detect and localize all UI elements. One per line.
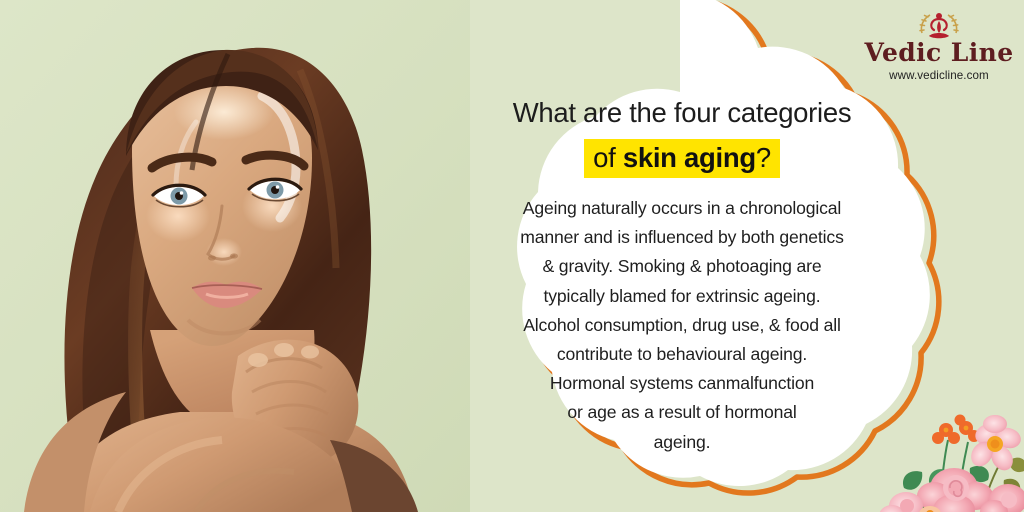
- body-line: Alcohol consumption, drug use, & food al…: [478, 311, 886, 340]
- body-line: Ageing naturally occurs in a chronologic…: [478, 194, 886, 223]
- body-line: or age as a result of hormonal: [478, 398, 886, 427]
- headline-line-1: What are the four categories: [478, 96, 886, 130]
- body-line: typically blamed for extrinsic ageing.: [478, 282, 886, 311]
- body-line: Hormonal systems canmalfunction: [478, 369, 886, 398]
- highlight-prefix: of: [593, 142, 623, 173]
- body-line: contribute to behavioural ageing.: [478, 340, 886, 369]
- body-line: manner and is influenced by both genetic…: [478, 223, 886, 252]
- floral-corner-decoration: [862, 384, 1024, 512]
- meditating-figure-wreath-icon: [916, 8, 962, 42]
- highlight-bold: skin aging: [623, 142, 756, 173]
- body-line: & gravity. Smoking & photoaging are: [478, 252, 886, 281]
- body-line: ageing.: [478, 428, 886, 457]
- body-copy: Ageing naturally occurs in a chronologic…: [478, 194, 886, 457]
- brand-url[interactable]: www.vedicline.com: [864, 69, 1014, 82]
- brand-name: Vedic Line: [864, 40, 1014, 66]
- callout-text-block: What are the four categories of skin agi…: [478, 96, 886, 457]
- headline-line-2: of skin aging?: [478, 139, 886, 178]
- skin-aging-highlight: of skin aging?: [584, 139, 780, 178]
- highlight-suffix: ?: [756, 142, 771, 173]
- brand-logo[interactable]: Vedic Line www.vedicline.com: [864, 8, 1014, 82]
- poster-canvas: What are the four categories of skin agi…: [0, 0, 1024, 512]
